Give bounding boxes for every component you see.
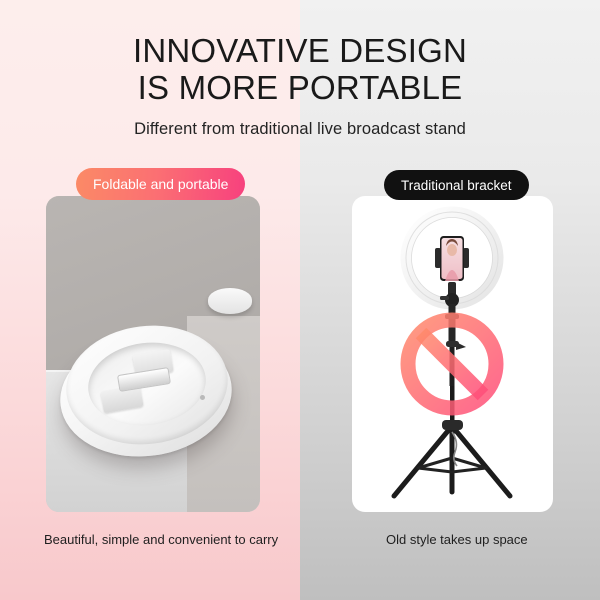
tripod-ring-light-illustration (352, 196, 553, 512)
product-photo-foldable (46, 196, 260, 512)
foldable-ring-light-icon (60, 326, 236, 466)
tripod-legs (394, 426, 510, 496)
badge-traditional-bracket: Traditional bracket (384, 170, 529, 200)
caption-right: Old style takes up space (386, 532, 528, 547)
header: INNOVATIVE DESIGN IS MORE PORTABLE Diffe… (0, 0, 600, 139)
caption-left: Beautiful, simple and convenient to carr… (44, 532, 278, 547)
badge-left-label: Foldable and portable (93, 176, 228, 192)
title-line-2: IS MORE PORTABLE (0, 69, 600, 106)
comparison-panel-left (46, 196, 260, 512)
ring-power-button (200, 395, 205, 400)
title-line-1: INNOVATIVE DESIGN (133, 32, 467, 69)
page-subtitle: Different from traditional live broadcas… (0, 120, 600, 139)
comparison-panel-right (352, 196, 553, 512)
photo-prop-object (208, 288, 252, 314)
badge-foldable-and-portable: Foldable and portable (76, 168, 245, 200)
badge-right-label: Traditional bracket (401, 178, 512, 193)
page-title: INNOVATIVE DESIGN IS MORE PORTABLE (0, 0, 600, 106)
product-photo-tripod (352, 196, 553, 512)
